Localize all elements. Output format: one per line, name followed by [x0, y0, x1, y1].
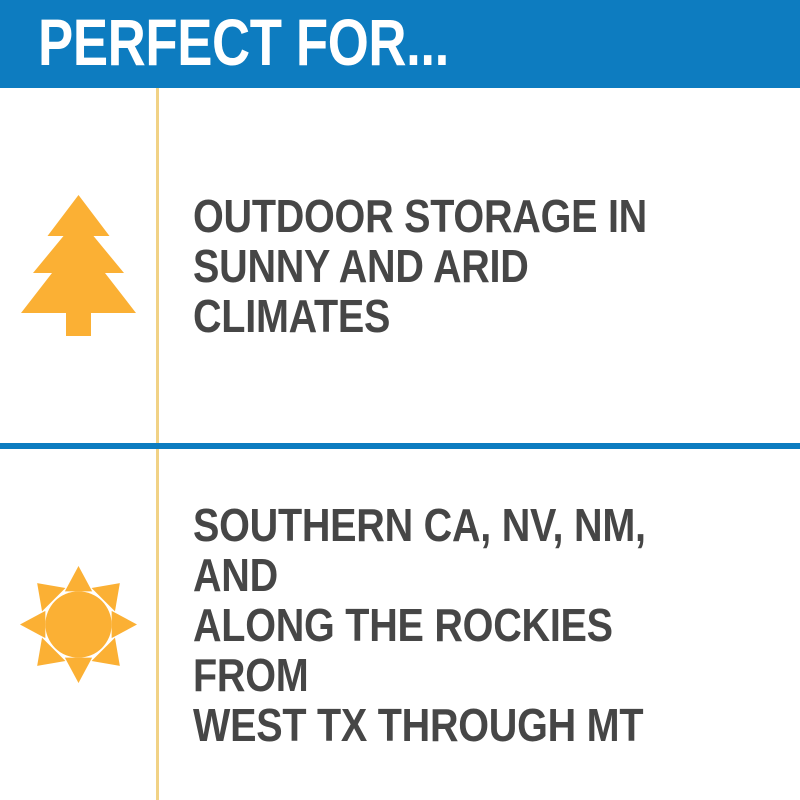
- list-item-label: OUTDOOR STORAGE IN SUNNY AND ARID CLIMAT…: [193, 191, 708, 341]
- icon-cell: [0, 88, 157, 443]
- list-item: SOUTHERN CA, NV, NM, AND ALONG THE ROCKI…: [0, 449, 800, 800]
- header-title: PERFECT FOR...: [38, 4, 449, 80]
- text-cell: OUTDOOR STORAGE IN SUNNY AND ARID CLIMAT…: [157, 191, 800, 341]
- list-item: OUTDOOR STORAGE IN SUNNY AND ARID CLIMAT…: [0, 88, 800, 443]
- list-item-label: SOUTHERN CA, NV, NM, AND ALONG THE ROCKI…: [193, 500, 708, 750]
- evergreen-tree-icon: [21, 195, 136, 336]
- header-banner: PERFECT FOR...: [0, 0, 800, 88]
- sun-icon: [19, 566, 138, 683]
- perfect-for-infographic: PERFECT FOR... OUTDOOR STORAGE IN SUNNY …: [0, 0, 800, 800]
- text-cell: SOUTHERN CA, NV, NM, AND ALONG THE ROCKI…: [157, 500, 800, 750]
- icon-cell: [0, 449, 157, 800]
